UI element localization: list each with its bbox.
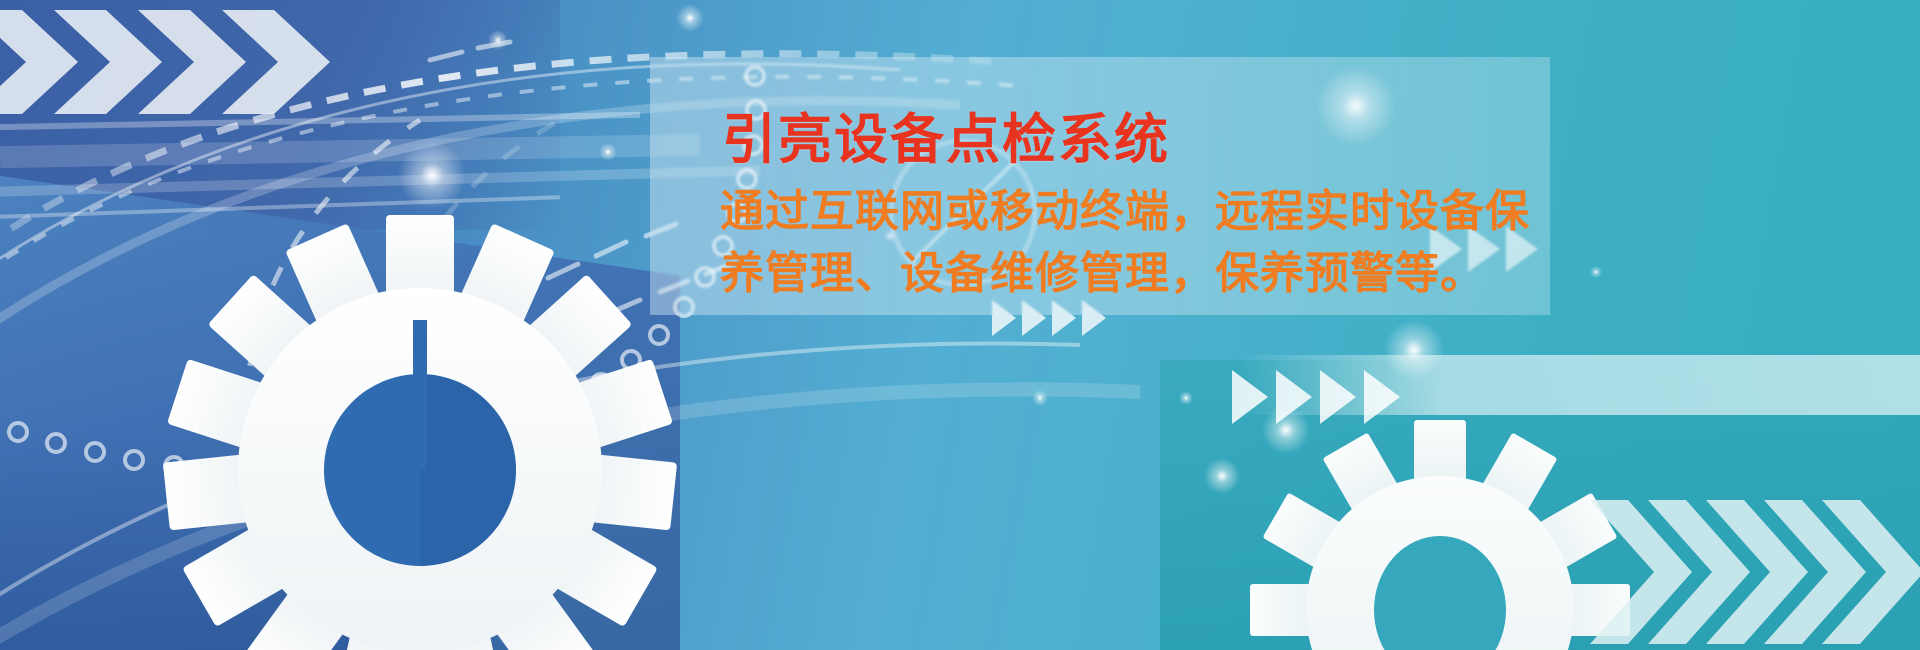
chevron-right-icon [1232,370,1400,424]
equipment-inspection-banner: 引亮设备点检系统 通过互联网或移动终端，远程实时设备保 养管理、设备维修管理，保… [0,0,1920,650]
subtitle-line-1: 通过互联网或移动终端，远程实时设备保 [720,175,1530,239]
chevron-right-icon [1590,500,1920,644]
chevron-right-icon [0,10,330,114]
gear-icon [163,215,677,650]
gear-icon [1250,420,1630,650]
subtitle-line-2: 养管理、设备维修管理，保养预警等。 [720,237,1485,301]
text-overlay-panel: 引亮设备点检系统 通过互联网或移动终端，远程实时设备保 养管理、设备维修管理，保… [650,57,1550,315]
page-title: 引亮设备点检系统 [722,95,1170,174]
